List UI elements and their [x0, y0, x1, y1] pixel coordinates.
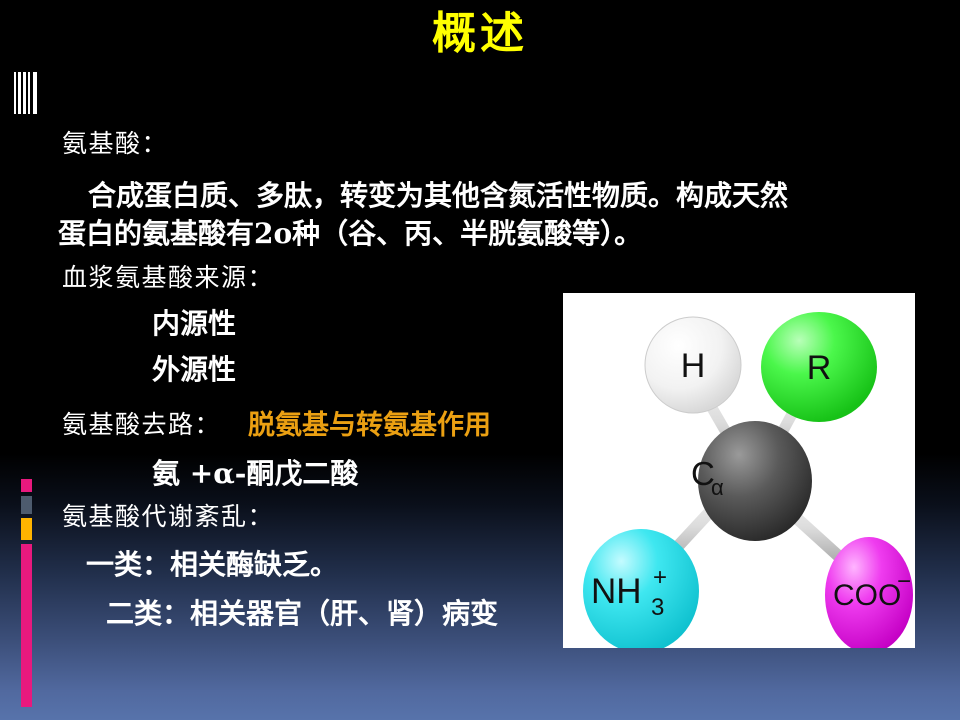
decoration-bar-2 — [18, 72, 21, 114]
decoration-swatch-pink — [21, 479, 32, 492]
disorder-label: 氨基酸代谢紊乱： — [62, 497, 274, 533]
decoration-bar-4 — [28, 72, 30, 114]
pathway-product-text: 氨 +α-酮戊二酸 — [152, 452, 358, 492]
pathway-accent-text: 脱氨基与转氨基作用 — [248, 403, 491, 442]
pathway-label: 氨基酸去路： — [62, 405, 221, 441]
atom-label-coo-main: COO — [833, 579, 901, 612]
amino-acid-structure-image: H R C α NH 3 + COO — [563, 293, 915, 648]
decoration-swatch-slate — [21, 496, 32, 514]
decoration-bar-1 — [14, 72, 16, 114]
page-title: 概述 — [0, 4, 960, 64]
amino-acid-paragraph-line-2: 蛋白的氨基酸有2o种（谷、丙、半胱氨酸等）。 — [58, 212, 642, 252]
atom-label-nh3-sub: 3 — [651, 594, 664, 621]
atom-r-group: R — [761, 312, 877, 422]
slide-canvas: 概述 氨基酸： 合成蛋白质、多肽，转变为其他含氮活性物质。构成天然 蛋白的氨基酸… — [0, 0, 960, 720]
disorder-type-2: 二类：相关器官（肝、肾）病变 — [106, 592, 498, 632]
amino-acid-label: 氨基酸： — [62, 124, 168, 160]
decoration-swatch-pink-bar — [21, 544, 32, 707]
plasma-source-item-exogenous: 外源性 — [152, 348, 236, 388]
disorder-type-1: 一类：相关酶缺乏。 — [86, 543, 338, 583]
plasma-source-label: 血浆氨基酸来源： — [62, 258, 274, 294]
atom-label-h: H — [681, 347, 706, 385]
atom-label-nh3-sup: + — [653, 564, 667, 591]
decoration-bar-3 — [23, 72, 26, 114]
decoration-color-swatches — [21, 479, 32, 707]
atom-label-calpha-sub: α — [711, 475, 724, 500]
decoration-vertical-bars — [14, 72, 38, 114]
plasma-source-item-endogenous: 内源性 — [152, 302, 236, 342]
amino-acid-paragraph-line-1: 合成蛋白质、多肽，转变为其他含氮活性物质。构成天然 — [88, 174, 788, 214]
molecule-svg: H R C α NH 3 + COO — [563, 293, 915, 648]
atom-hydrogen: H — [645, 317, 741, 413]
atom-label-coo-sup: − — [897, 568, 911, 595]
decoration-swatch-gold — [21, 518, 32, 540]
decoration-bar-5 — [33, 72, 37, 114]
atom-label-nh3-main: NH — [591, 572, 642, 611]
atom-label-r: R — [807, 349, 832, 387]
